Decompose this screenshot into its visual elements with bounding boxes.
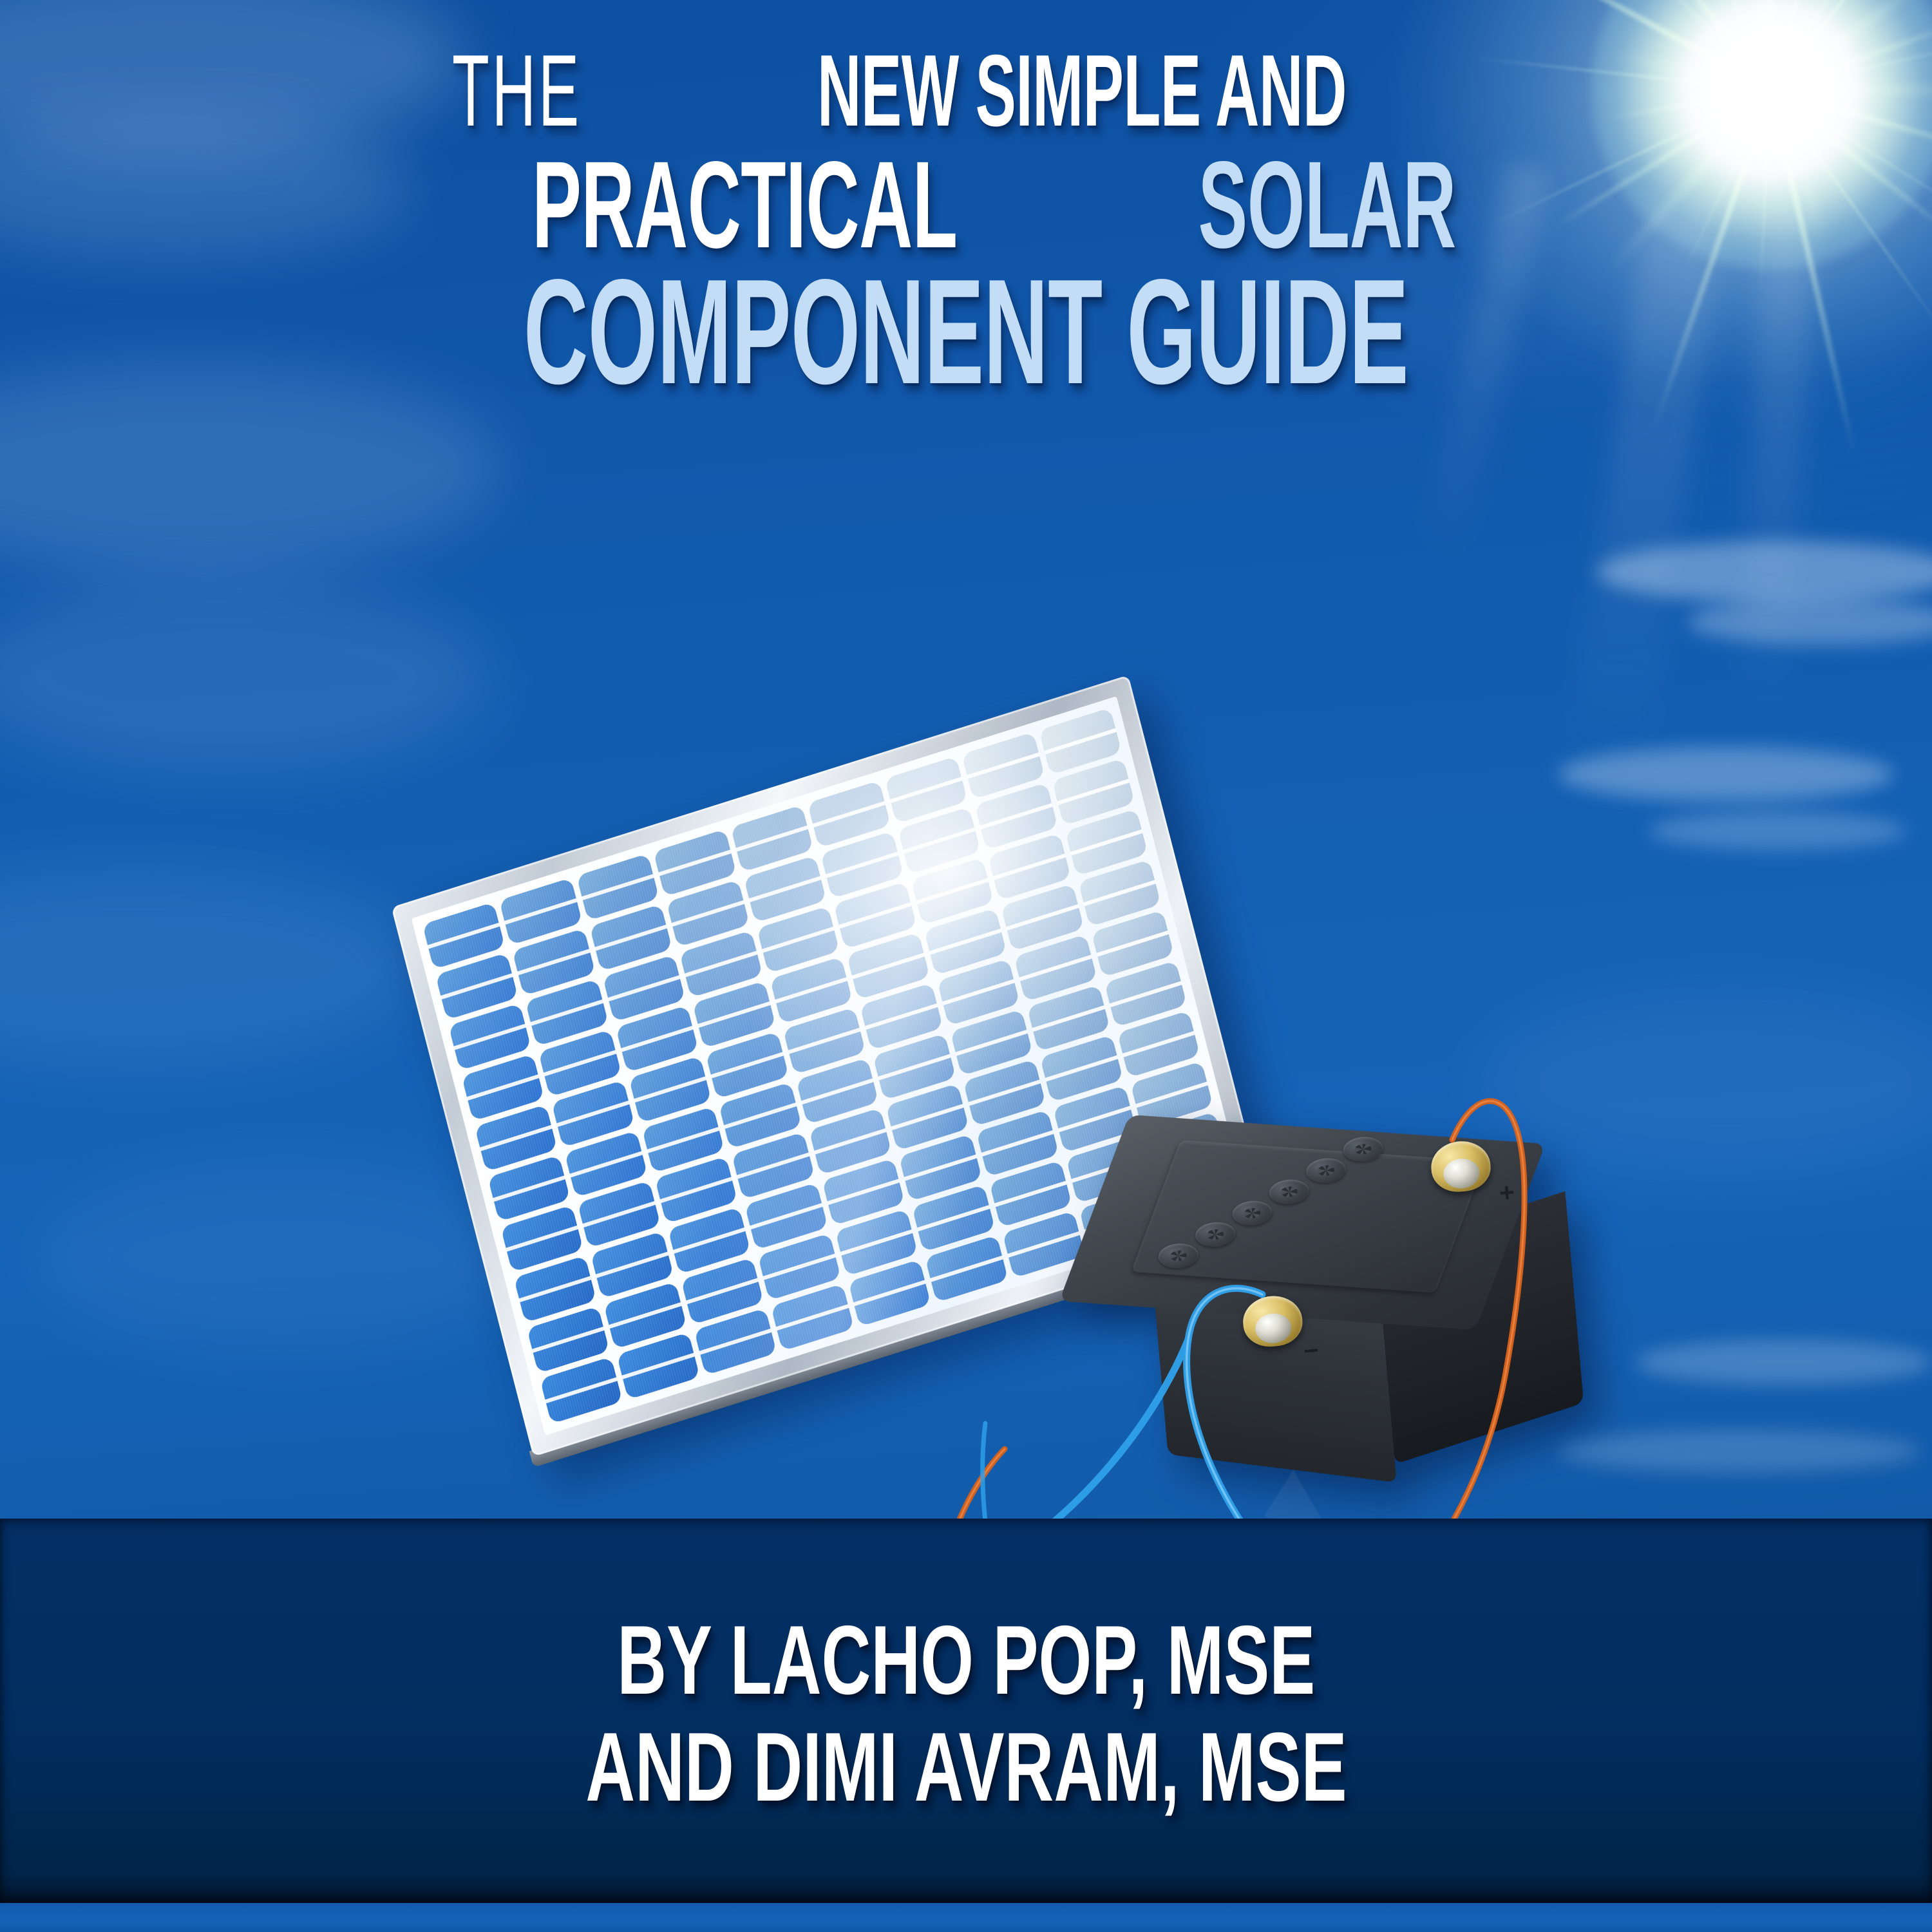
cloud [1597,541,1932,603]
lead-acid-battery: + − [1122,1076,1607,1526]
cloud [1558,747,1893,801]
solar-panel [391,675,1270,1457]
title-the: THE [452,40,582,142]
author-line-2: AND DIMI AVRAM, MSE [0,1718,1932,1816]
title-line-1: THENEW SIMPLE AND [0,40,1932,142]
book-cover: THENEW SIMPLE AND PRACTICALSOLAR COMPONE… [0,0,1932,1932]
title-new-simple-and: NEW SIMPLE AND [817,40,1347,142]
cloud [39,1159,528,1352]
author-line-1-text: BY LACHO POP, MSE [617,1611,1315,1709]
cloud [1636,1340,1932,1385]
polarity-plus-label: + [1498,1178,1515,1208]
terminal-post [1442,1157,1481,1189]
cloud [0,863,425,1069]
cloud [0,580,489,773]
panel-frame [391,675,1270,1457]
panel-glass [412,696,1250,1435]
cloud [1558,1430,1919,1472]
cloud [1649,811,1906,850]
panel-cell-grid [422,708,1240,1424]
author-line-1: BY LACHO POP, MSE [0,1611,1932,1709]
title-line-3: COMPONENT GUIDE [0,258,1932,407]
cloud [1687,599,1932,645]
polarity-minus-label: − [1303,1336,1320,1367]
bottom-strip [0,1903,1932,1932]
terminal-post [1254,1312,1293,1345]
title-component-guide: COMPONENT GUIDE [524,258,1408,407]
author-line-2-text: AND DIMI AVRAM, MSE [585,1718,1347,1816]
